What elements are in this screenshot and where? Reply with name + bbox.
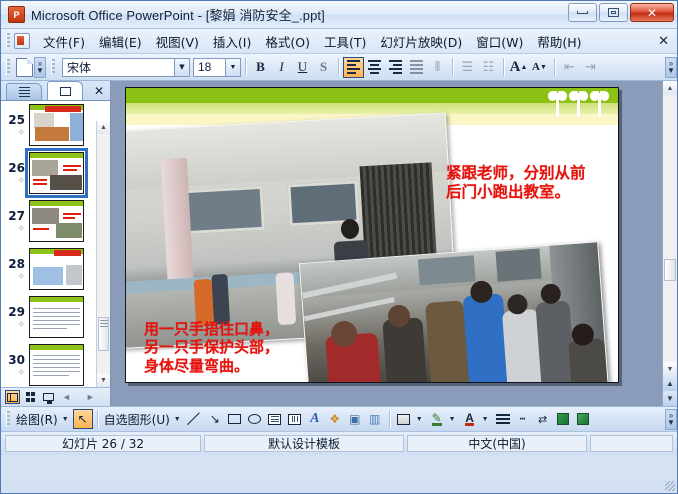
toolbar-overflow-button-1[interactable]: »▼ [34,57,46,78]
formatting-toolbar: »▼ 宋体 ▼ 18 ▼ B I U S ⦀ ☰ ☷ A [1,54,677,81]
line-style-button[interactable] [493,409,513,429]
toolbar-overflow-button-3[interactable]: »▼ [665,409,677,430]
animation-star-icon[interactable]: ✧ [3,175,29,186]
language-indicator[interactable]: 中文(中国) [407,435,587,452]
chevron-down-icon[interactable]: ▼ [225,59,240,76]
wordart-button[interactable]: A [305,409,325,429]
increase-indent-button[interactable]: ⇥ [580,57,601,78]
rectangle-button[interactable] [225,409,245,429]
numbered-list-button[interactable]: ☰ [457,57,478,78]
sprout-icon [549,89,566,117]
separator [452,58,453,76]
resize-grip[interactable] [665,481,675,491]
slide-thumbnail[interactable] [29,104,84,146]
separator [97,410,98,428]
menu-tools[interactable]: 工具(T) [317,29,373,54]
line-style-icon [496,414,510,424]
font-size-value: 18 [198,60,211,74]
decrease-font-size-button[interactable]: A▼ [529,57,550,78]
shadow-style-icon [557,413,569,425]
powerpoint-icon: P [8,6,25,23]
animation-star-icon[interactable]: ✧ [3,127,29,138]
sprout-decoration [549,89,608,117]
menu-bar: 文件(F) 编辑(E) 视图(V) 插入(I) 格式(O) 工具(T) 幻灯片放… [1,29,677,54]
restore-button[interactable] [599,3,628,22]
scroll-down-button[interactable]: ▼ [97,374,110,387]
animation-star-icon[interactable]: ✧ [3,319,29,330]
outline-icon [19,87,30,98]
chevron-down-icon[interactable]: ▼ [416,416,423,423]
animation-star-icon[interactable]: ✧ [3,271,29,282]
nav-prev-button[interactable]: ◄ [62,392,71,402]
distributed-align-button[interactable] [406,57,427,78]
slide-number: 25 [3,113,29,127]
fill-color-button[interactable] [394,409,414,429]
previous-slide-button[interactable]: ▲ [663,376,677,391]
underline-button[interactable]: U [292,57,313,78]
slide-thumbnail[interactable] [29,296,84,338]
design-template-indicator[interactable]: 默认设计模板 [204,435,404,452]
list-item[interactable]: 27 ✧ [1,197,110,245]
window-controls: ✕ [568,3,674,22]
line-color-icon: ✎ [432,413,442,426]
sprout-icon [591,89,608,117]
dash-style-button[interactable]: ┅ [513,409,533,429]
justify-icon [410,60,423,74]
text-direction-button[interactable]: ⦀ [427,57,448,78]
slide-thumbnail-selected[interactable] [29,152,84,194]
animation-star-icon[interactable]: ✧ [3,223,29,234]
list-item[interactable]: 29 ✧ [1,293,110,341]
italic-button[interactable]: I [271,57,292,78]
separator [503,58,504,76]
draw-menu-button[interactable]: 绘图(R) [14,411,60,428]
select-arrow-button[interactable]: ↖ [73,409,93,429]
separator [554,58,555,76]
list-item[interactable]: 28 ✧ [1,245,110,293]
chevron-down-icon[interactable]: ▼ [174,59,189,76]
panel-tabs: ✕ [1,81,110,101]
status-spare-cell [590,435,673,452]
document-icon [14,33,30,49]
students-evacuation-photo[interactable] [299,241,609,383]
text-box-button[interactable] [265,409,285,429]
vertical-text-box-button[interactable] [285,409,305,429]
toolbar-grip-2[interactable] [51,59,55,75]
work-area: ✕ 25 ✧ 26 [1,81,677,406]
slide-sorter-button[interactable] [23,390,38,404]
vertical-text-box-icon [288,414,301,425]
normal-view-icon [7,393,18,402]
align-right-icon [389,60,402,74]
slide-thumbnail[interactable] [29,200,84,242]
slide-show-icon [43,393,54,401]
chevron-down-icon[interactable]: ▼ [62,416,69,423]
slide-thumbnail-panel: ✕ 25 ✧ 26 [1,81,111,406]
slide-thumbnail[interactable] [29,344,84,386]
chevron-down-icon[interactable]: ▼ [174,416,181,423]
scrollbar-thumb[interactable] [664,259,676,281]
scrollbar-thumb[interactable] [98,317,109,351]
list-item[interactable]: 30 ✧ [1,341,110,387]
slide-show-button[interactable] [41,390,56,404]
align-right-button[interactable] [385,57,406,78]
clip-art-button[interactable]: ▣ [345,409,365,429]
font-name-value: 宋体 [67,59,91,76]
close-button[interactable]: ✕ [630,3,674,22]
slides-icon [60,87,71,96]
align-center-button[interactable] [364,57,385,78]
view-buttons-bar: ◄ ► [1,387,110,406]
menu-help[interactable]: 帮助(H) [530,29,588,54]
minimize-button[interactable] [568,3,597,22]
menu-format[interactable]: 格式(O) [258,29,317,54]
align-center-icon [368,60,381,74]
separator [245,58,246,76]
align-left-button[interactable] [343,57,364,78]
slide-lime-band [126,103,618,114]
separator [338,58,339,76]
slide-number: 27 [3,209,29,223]
list-item[interactable]: 26 ✧ [1,149,110,197]
menu-window[interactable]: 窗口(W) [469,29,530,54]
slide-green-band [126,88,618,103]
line-color-button[interactable]: ✎ [427,409,447,429]
bold-button[interactable]: B [250,57,271,78]
toolbar-overflow-button-2[interactable]: »▼ [665,57,677,78]
picture-button[interactable]: ▥ [365,409,385,429]
slide-vertical-scrollbar[interactable]: ▲ ▼ ▲ ▼ [662,81,677,406]
menu-slideshow[interactable]: 幻灯片放映(D) [373,29,469,54]
slide-thumbnail[interactable] [29,248,84,290]
outline-tab[interactable] [6,83,42,100]
increase-font-size-button[interactable]: A▲ [508,57,529,78]
slide-number: 29 [3,305,29,319]
fill-color-icon [397,414,410,425]
scroll-up-button[interactable]: ▲ [663,81,677,95]
scroll-up-button[interactable]: ▲ [97,121,110,134]
toolbar-grip-3[interactable] [6,411,10,427]
slide-number: 30 [3,353,29,367]
normal-view-button[interactable] [5,390,20,404]
slide-text-top[interactable]: 紧跟老师，分别从前 后门小跑出教室。 [446,164,586,202]
3d-style-icon [577,413,589,425]
font-size-combo[interactable]: 18 ▼ [193,58,241,77]
thumbnail-scrollbar[interactable]: ▲ ▼ [96,121,110,387]
chevron-down-icon[interactable]: ▼ [482,416,489,423]
status-bar: 幻灯片 26 / 32 默认设计模板 中文(中国) [1,431,677,455]
slide-indicator: 幻灯片 26 / 32 [5,435,201,452]
separator [389,410,390,428]
next-slide-button[interactable]: ▼ [663,391,677,406]
oval-icon [248,414,261,424]
powerpoint-window: P Microsoft Office PowerPoint - [黎娟 消防安全… [0,0,678,494]
slide-sorter-icon [26,392,36,402]
rectangle-icon [228,414,241,424]
autoshapes-menu-button[interactable]: 自选图形(U) [102,411,172,428]
3d-style-button[interactable] [573,409,593,429]
line-icon [188,413,201,426]
arrow-button[interactable]: ↘ [205,409,225,429]
drawing-toolbar: 绘图(R) ▼ ↖ 自选图形(U) ▼ ↘ A ❖ ▣ ▥ ▼ ✎ ▼ A ▼ … [1,406,677,431]
list-item[interactable]: 25 ✧ [1,101,110,149]
current-slide[interactable]: 紧跟老师，分别从前 后门小跑出教室。 用一只手捂住口鼻， 另一只手保护头部， 身… [125,87,619,383]
slide-canvas-area[interactable]: 紧跟老师，分别从前 后门小跑出教室。 用一只手捂住口鼻， 另一只手保护头部， 身… [111,81,677,406]
close-panel-button[interactable]: ✕ [94,84,104,98]
slide-text-bottom[interactable]: 用一只手捂住口鼻， 另一只手保护头部， 身体尽量弯曲。 [144,320,279,375]
scroll-down-button[interactable]: ▼ [663,362,677,376]
bulleted-list-button[interactable]: ☷ [478,57,499,78]
sprout-icon [570,89,587,117]
slide-number: 28 [3,257,29,271]
nav-next-button[interactable]: ► [86,392,95,402]
close-document-button[interactable]: ✕ [658,33,669,49]
menu-edit[interactable]: 编辑(E) [92,29,149,54]
window-title: Microsoft Office PowerPoint - [黎娟 消防安全_.… [31,5,325,24]
toolbar-grip-1[interactable] [6,59,10,75]
align-left-icon [347,60,360,74]
shadow-style-button[interactable] [553,409,573,429]
title-bar: P Microsoft Office PowerPoint - [黎娟 消防安全… [1,1,677,29]
animation-star-icon[interactable]: ✧ [3,367,29,378]
thumbnail-list[interactable]: 25 ✧ 26 ✧ [1,101,110,387]
menu-grip[interactable] [6,33,10,49]
oval-button[interactable] [245,409,265,429]
text-box-icon [268,414,281,425]
font-name-combo[interactable]: 宋体 ▼ [62,58,190,77]
new-document-icon[interactable] [16,58,33,77]
slides-tab[interactable] [47,81,83,100]
arrow-style-button[interactable]: ⇄ [533,409,553,429]
menu-insert[interactable]: 插入(I) [206,29,258,54]
font-color-button[interactable]: A [460,409,480,429]
menu-view[interactable]: 视图(V) [149,29,206,54]
chevron-down-icon[interactable]: ▼ [449,416,456,423]
menu-file[interactable]: 文件(F) [36,29,92,54]
decrease-indent-button[interactable]: ⇤ [559,57,580,78]
diagram-button[interactable]: ❖ [325,409,345,429]
line-button[interactable] [185,409,205,429]
slide-number: 26 [3,161,29,175]
shadow-button[interactable]: S [313,57,334,78]
font-color-icon: A [465,413,474,426]
